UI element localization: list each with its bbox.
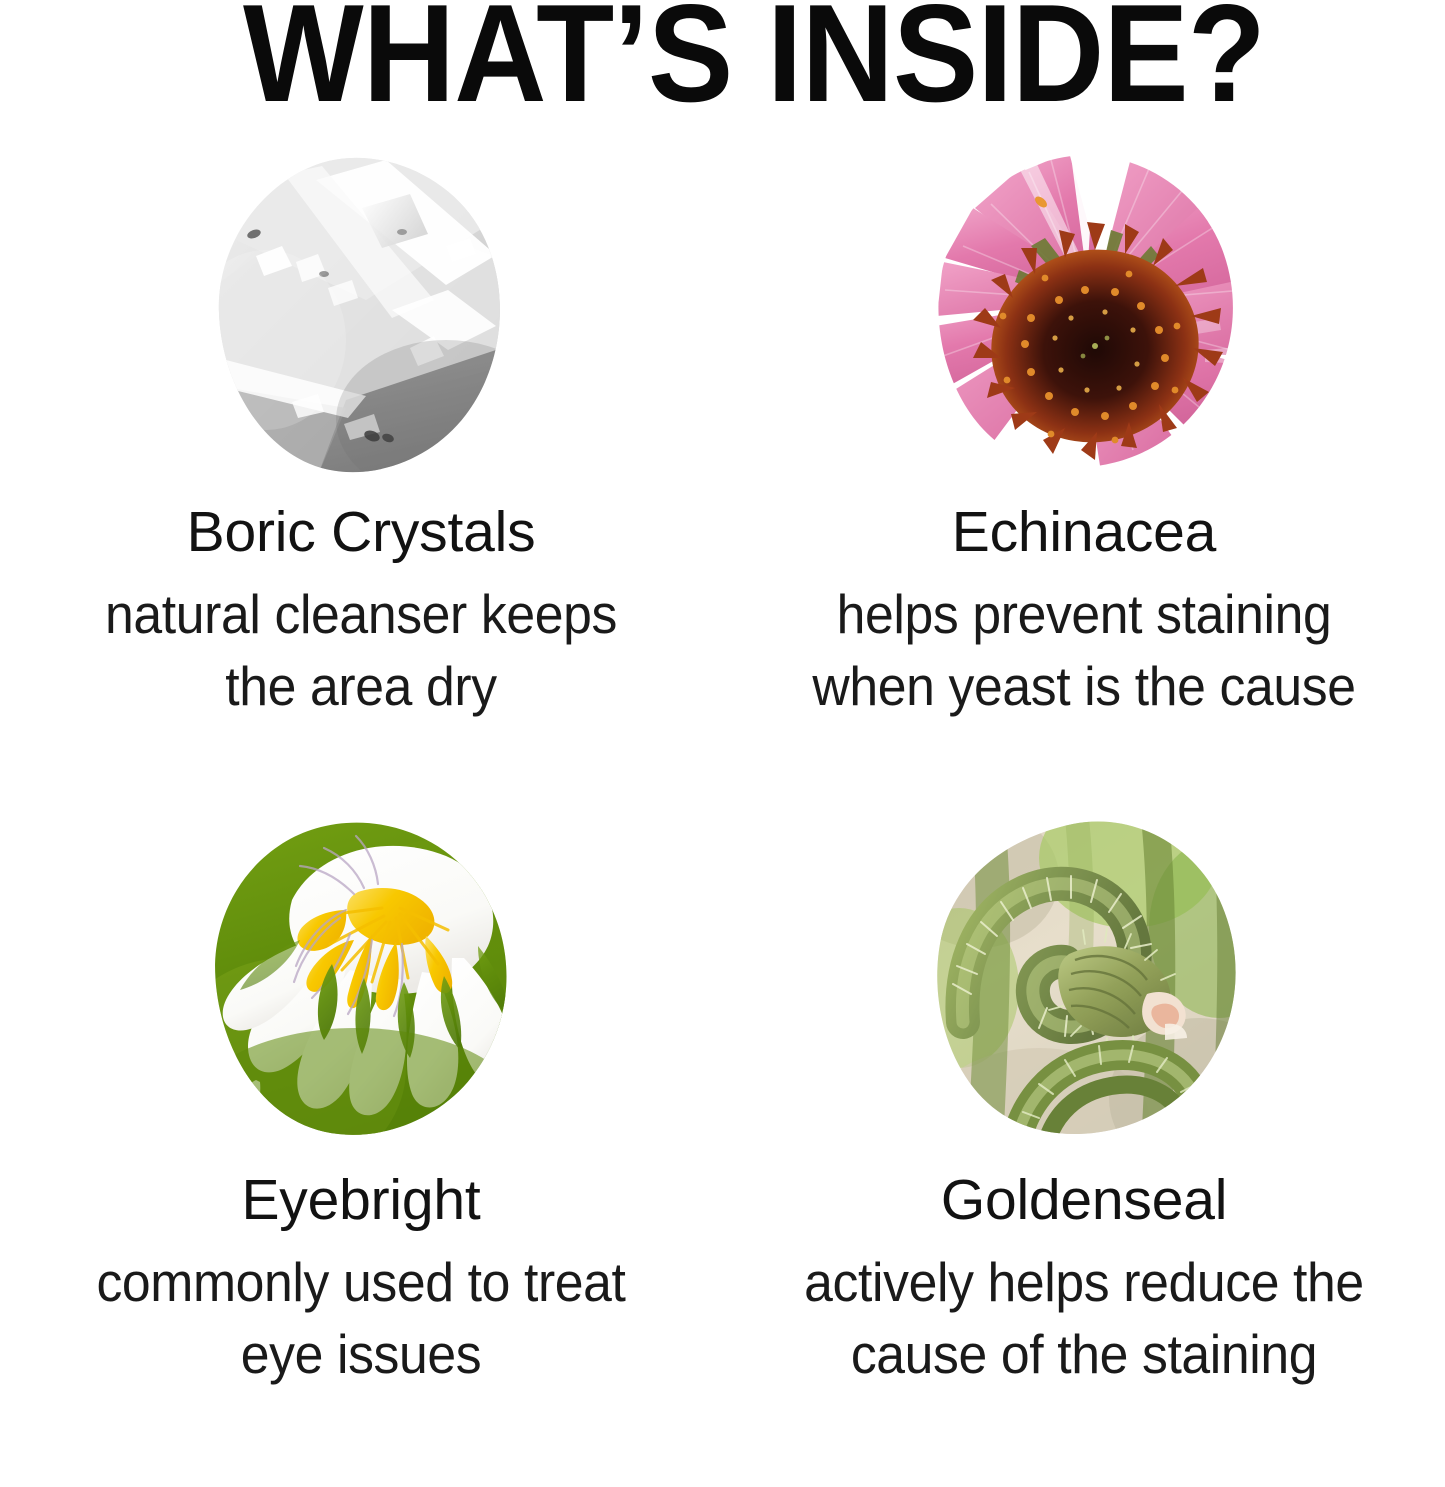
echinacea-flower-photo: [919, 150, 1249, 480]
eyebright-flower-photo: [196, 818, 526, 1148]
ingredient-description: natural cleanser keeps the area dry: [13, 578, 709, 722]
header: WHAT’S INSIDE?: [0, 0, 1445, 150]
ingredient-card-boric-crystals: Boric Crystals natural cleanser keeps th…: [0, 150, 722, 722]
ingredient-card-eyebright: Eyebright commonly used to treat eye iss…: [0, 818, 722, 1390]
ingredient-description: helps prevent staining when yeast is the…: [736, 578, 1432, 722]
ingredient-name: Goldenseal: [941, 1170, 1227, 1232]
ingredient-name: Echinacea: [952, 502, 1216, 564]
ingredient-card-goldenseal: Goldenseal actively helps reduce the cau…: [723, 818, 1445, 1390]
boric-crystal-photo: [196, 150, 526, 480]
ingredients-grid: Boric Crystals natural cleanser keeps th…: [0, 150, 1445, 1487]
ingredient-name: Eyebright: [241, 1170, 480, 1232]
goldenseal-plant-photo: [919, 818, 1249, 1148]
ingredient-description: commonly used to treat eye issues: [4, 1246, 718, 1390]
ingredient-description: actively helps reduce the cause of the s…: [727, 1246, 1441, 1390]
ingredient-name: Boric Crystals: [187, 502, 536, 564]
page-title: WHAT’S INSIDE?: [243, 0, 1265, 123]
ingredient-card-echinacea: Echinacea helps prevent staining when ye…: [723, 150, 1445, 722]
